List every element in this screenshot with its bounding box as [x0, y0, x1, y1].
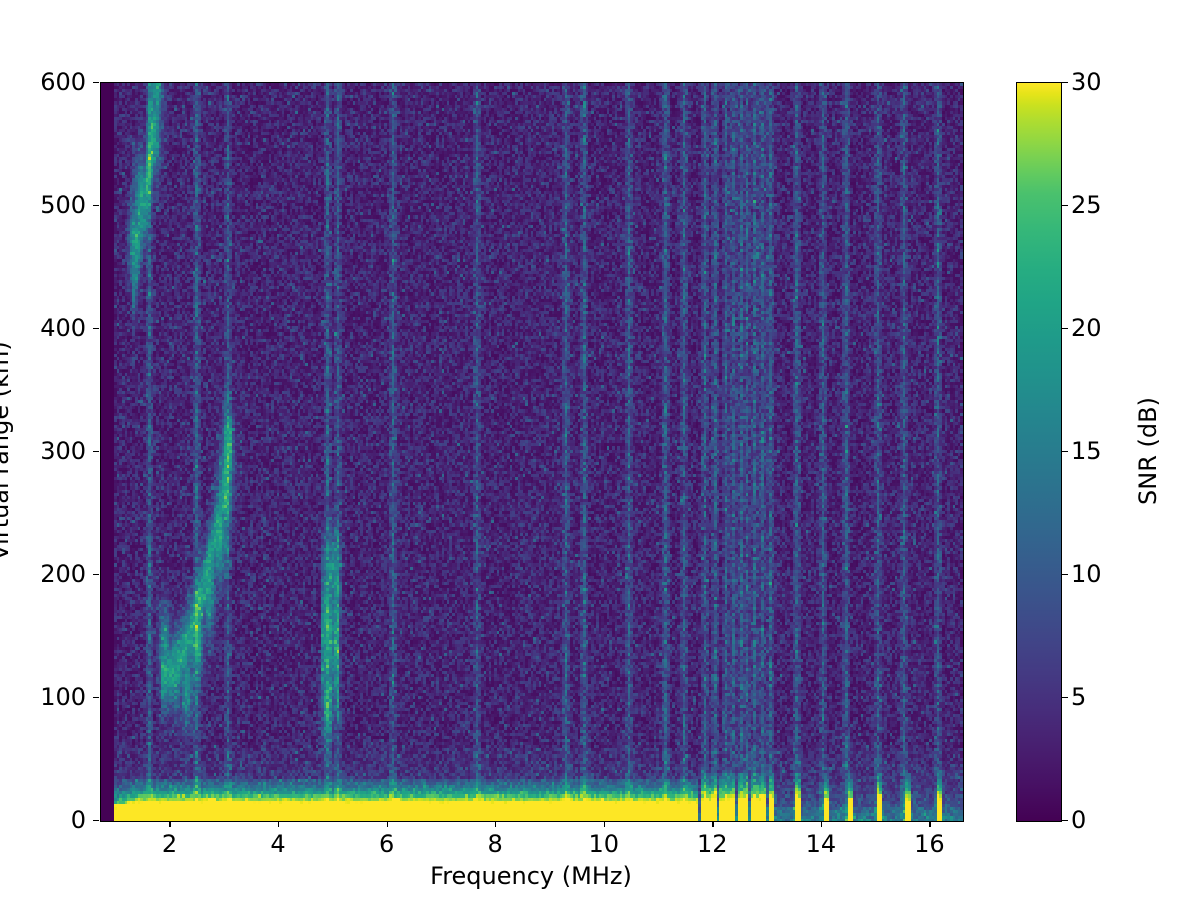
x-tick-label: 10 [588, 830, 619, 858]
x-tick-label: 6 [379, 830, 394, 858]
colorbar-tick-mark [1062, 697, 1068, 698]
y-tick-label: 100 [40, 683, 86, 711]
colorbar-tick-mark [1062, 820, 1068, 821]
colorbar-tick-label: 20 [1071, 314, 1102, 342]
x-tick-mark [387, 821, 388, 827]
x-tick-label: 2 [162, 830, 177, 858]
colorbar-tick-mark [1062, 574, 1068, 575]
x-tick-label: 8 [488, 830, 503, 858]
x-tick-mark [712, 821, 713, 827]
y-tick-label: 0 [71, 806, 86, 834]
y-tick-label: 300 [40, 437, 86, 465]
y-tick-label: 400 [40, 314, 86, 342]
colorbar-tick-label: 30 [1071, 68, 1102, 96]
ionogram-heatmap [101, 83, 963, 821]
y-tick-mark [93, 574, 99, 575]
y-tick-mark [93, 820, 99, 821]
ionogram-figure: IRF Uppsala SDR Ionosonde UP158 2026-01-… [0, 0, 1200, 900]
colorbar-tick-label: 10 [1071, 560, 1102, 588]
x-tick-label: 12 [697, 830, 728, 858]
y-tick-mark [93, 451, 99, 452]
y-tick-label: 500 [40, 191, 86, 219]
y-tick-mark [93, 697, 99, 698]
x-tick-mark [169, 821, 170, 827]
y-tick-label: 200 [40, 560, 86, 588]
colorbar-tick-mark [1062, 451, 1068, 452]
x-tick-mark [604, 821, 605, 827]
colorbar-label: SNR (dB) [1134, 397, 1162, 505]
colorbar-tick-label: 0 [1071, 806, 1086, 834]
colorbar-tick-label: 15 [1071, 437, 1102, 465]
x-tick-mark [278, 821, 279, 827]
plot-axes [100, 82, 964, 822]
x-tick-label: 14 [806, 830, 837, 858]
snr-colorbar [1016, 82, 1062, 822]
colorbar-tick-mark [1062, 328, 1068, 329]
x-tick-label: 16 [914, 830, 945, 858]
x-axis-label: Frequency (MHz) [100, 862, 962, 890]
y-tick-mark [93, 328, 99, 329]
y-tick-mark [93, 82, 99, 83]
colorbar-tick-label: 5 [1071, 683, 1086, 711]
y-tick-mark [93, 205, 99, 206]
x-tick-mark [495, 821, 496, 827]
colorbar-tick-label: 25 [1071, 191, 1102, 219]
colorbar-tick-mark [1062, 82, 1068, 83]
y-axis-label: Virtual range (km) [0, 341, 14, 560]
x-tick-label: 4 [270, 830, 285, 858]
y-tick-label: 600 [40, 68, 86, 96]
colorbar-tick-mark [1062, 205, 1068, 206]
x-tick-mark [929, 821, 930, 827]
x-tick-mark [821, 821, 822, 827]
